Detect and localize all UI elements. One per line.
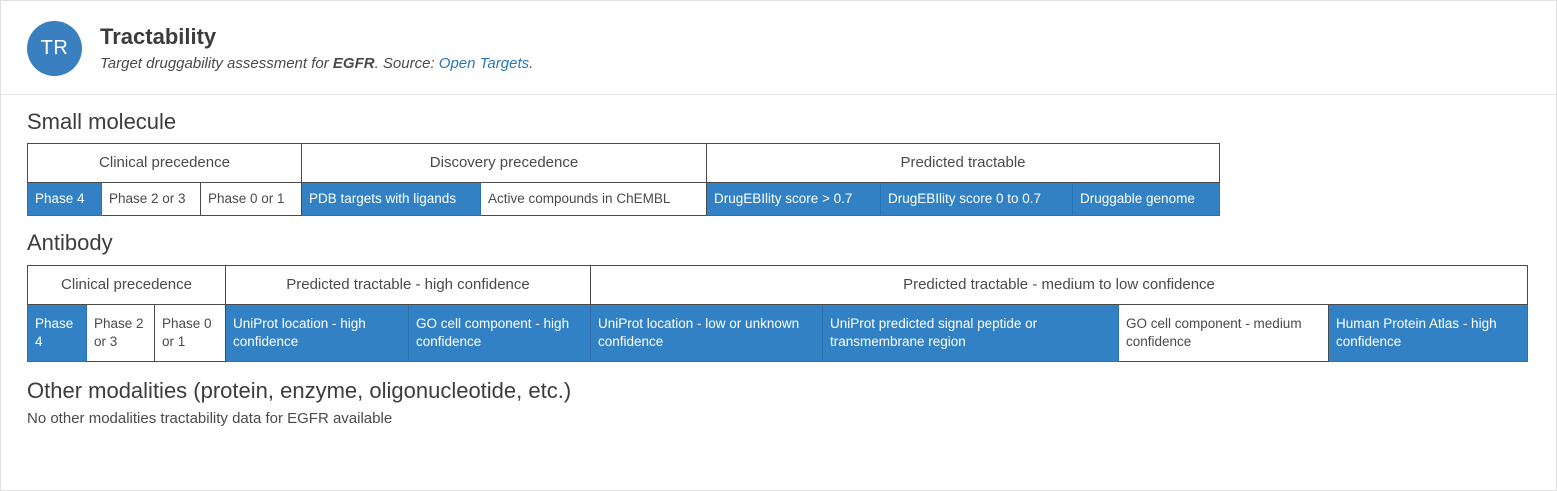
sm-cell-phase-0-or-1[interactable]: Phase 0 or 1 [201,183,302,216]
small-molecule-cell-row: Phase 4 Phase 2 or 3 Phase 0 or 1 PDB ta… [28,183,1220,216]
avatar: TR [27,21,82,76]
group-header-predicted-tractable: Predicted tractable [707,144,1220,183]
ab-cell-phase-0-or-1[interactable]: Phase 0 or 1 [155,304,226,361]
ab-cell-uniprot-location-high-confidence[interactable]: UniProt location - high confidence [226,304,409,361]
ab-cell-phase-2-or-3[interactable]: Phase 2 or 3 [87,304,155,361]
sm-cell-drugebility-score-above-0-7[interactable]: DrugEBIlity score > 0.7 [707,183,881,216]
group-header-discovery-precedence: Discovery precedence [302,144,707,183]
section-title-other-modalities: Other modalities (protein, enzyme, oligo… [27,378,1530,404]
group-header-clinical-precedence: Clinical precedence [28,144,302,183]
small-molecule-table: Clinical precedence Discovery precedence… [27,143,1220,216]
ab-cell-go-cell-component-high-confidence[interactable]: GO cell component - high confidence [409,304,591,361]
antibody-group-row: Clinical precedence Predicted tractable … [28,265,1528,304]
ab-cell-uniprot-location-low-or-unknown-confidence[interactable]: UniProt location - low or unknown confid… [591,304,823,361]
ab-cell-human-protein-atlas-high-confidence[interactable]: Human Protein Atlas - high confidence [1329,304,1528,361]
subtitle-source-label: . Source: [375,55,439,72]
ab-cell-uniprot-predicted-signal-peptide-or-transmembrane-region[interactable]: UniProt predicted signal peptide or tran… [823,304,1119,361]
header-text-block: Tractability Target druggability assessm… [100,24,533,74]
subtitle-prefix: Target druggability assessment for [100,55,333,72]
section-title-antibody: Antibody [27,230,1530,256]
subtitle-target-symbol: EGFR [333,55,375,72]
sm-cell-drugebility-score-0-to-0-7[interactable]: DrugEBIlity score 0 to 0.7 [881,183,1073,216]
avatar-initials: TR [41,37,69,60]
page-title: Tractability [100,24,533,50]
sm-cell-pdb-targets-with-ligands[interactable]: PDB targets with ligands [302,183,481,216]
small-molecule-group-row: Clinical precedence Discovery precedence… [28,144,1220,183]
antibody-cell-row: Phase 4 Phase 2 or 3 Phase 0 or 1 UniPro… [28,304,1528,361]
group-header-predicted-tractable-high: Predicted tractable - high confidence [226,265,591,304]
group-header-clinical-precedence: Clinical precedence [28,265,226,304]
sm-cell-druggable-genome[interactable]: Druggable genome [1073,183,1220,216]
ab-cell-phase-4[interactable]: Phase 4 [28,304,87,361]
open-targets-link[interactable]: Open Targets [439,55,529,72]
tractability-card: TR Tractability Target druggability asse… [0,0,1557,491]
sm-cell-active-compounds-in-chembl[interactable]: Active compounds in ChEMBL [481,183,707,216]
card-body: Small molecule Clinical precedence Disco… [1,109,1556,429]
section-title-small-molecule: Small molecule [27,109,1530,135]
card-header: TR Tractability Target druggability asse… [1,1,1556,95]
antibody-table: Clinical precedence Predicted tractable … [27,265,1528,362]
sm-cell-phase-4[interactable]: Phase 4 [28,183,102,216]
ab-cell-go-cell-component-medium-confidence[interactable]: GO cell component - medium confidence [1119,304,1329,361]
other-modalities-message: No other modalities tractability data fo… [27,408,1530,429]
group-header-predicted-tractable-medium-low: Predicted tractable - medium to low conf… [591,265,1528,304]
sm-cell-phase-2-or-3[interactable]: Phase 2 or 3 [102,183,201,216]
header-subtitle: Target druggability assessment for EGFR.… [100,54,533,74]
subtitle-suffix: . [529,55,533,72]
